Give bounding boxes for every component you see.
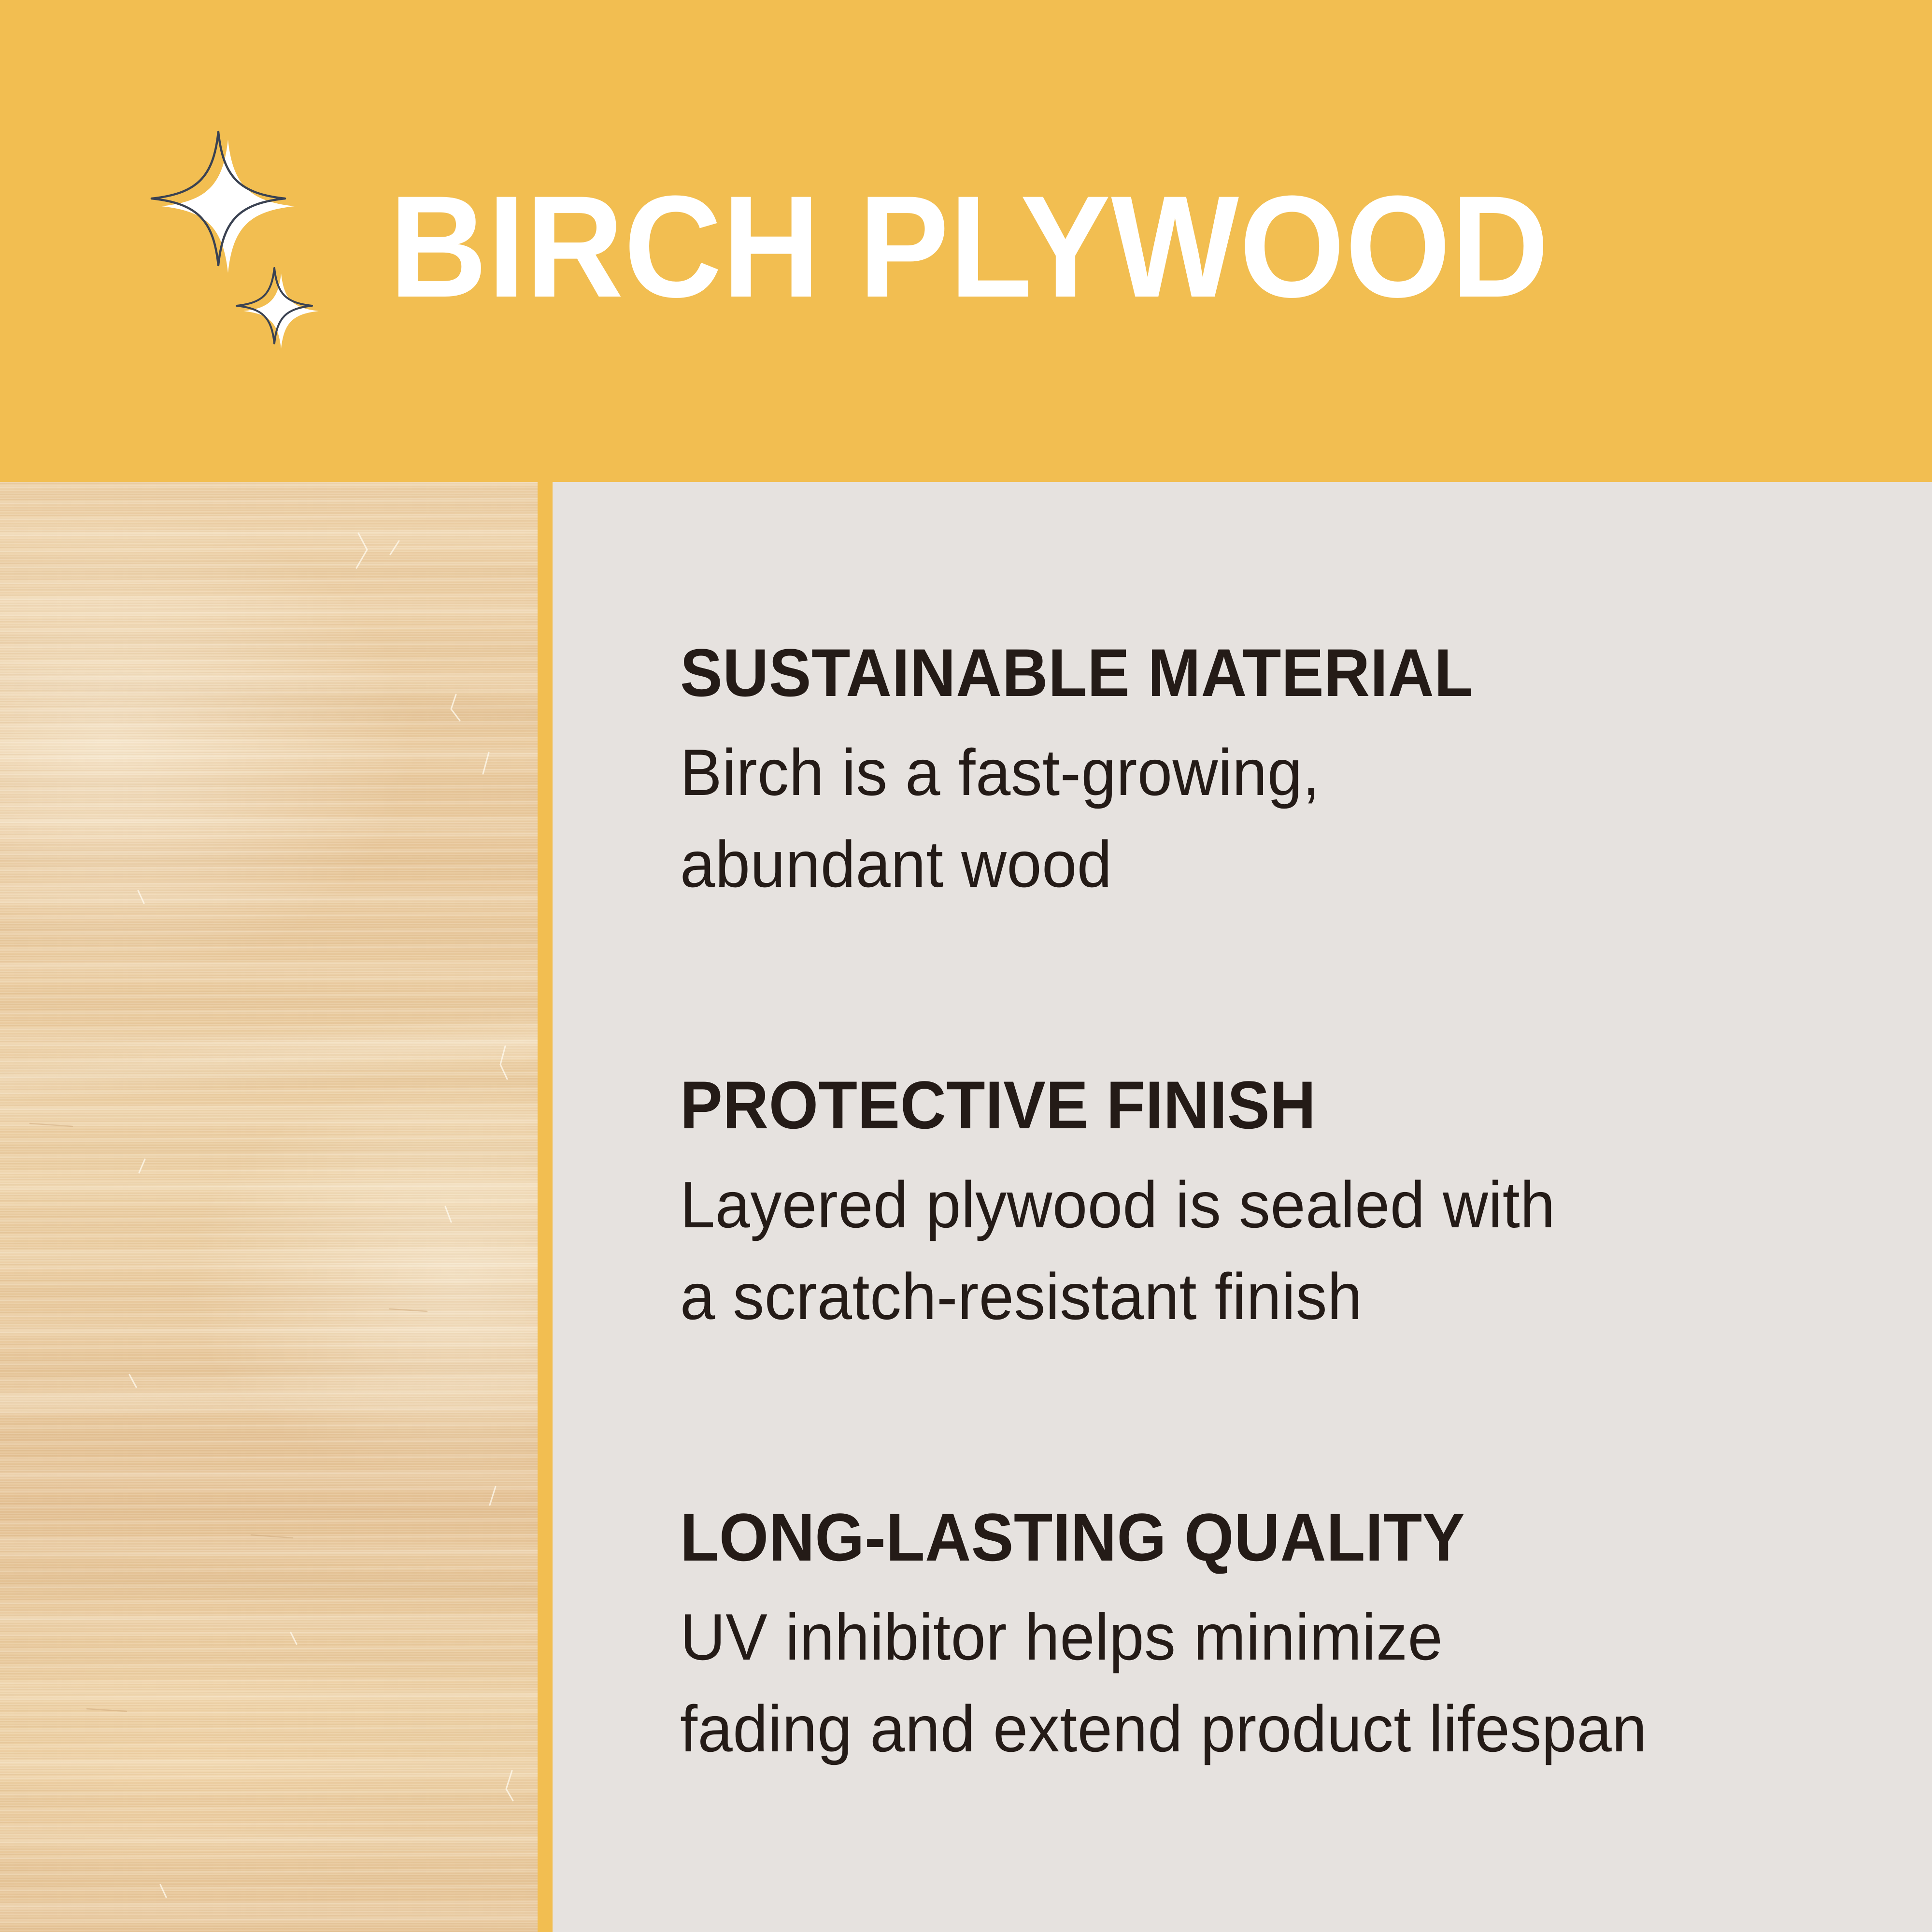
feature-heading: SUSTAINABLE MATERIAL: [680, 637, 1842, 709]
feature-block-sustainable-material: SUSTAINABLE MATERIAL Birch is a fast-gro…: [680, 637, 1917, 910]
feature-block-long-lasting-quality: LONG-LASTING QUALITY UV inhibitor helps …: [680, 1501, 1917, 1775]
feature-body-line: fading and extend product lifespan: [680, 1683, 1861, 1775]
sparkle-small-icon: [237, 268, 319, 349]
feature-body: Layered plywood is sealed with a scratch…: [680, 1159, 1861, 1342]
feature-block-protective-finish: PROTECTIVE FINISH Layered plywood is sea…: [680, 1069, 1917, 1342]
feature-body: UV inhibitor helps minimize fading and e…: [680, 1591, 1861, 1775]
page-title: BIRCH PLYWOOD: [389, 164, 1549, 328]
features-panel: SUSTAINABLE MATERIAL Birch is a fast-gro…: [553, 482, 1932, 1932]
feature-heading: PROTECTIVE FINISH: [680, 1069, 1842, 1141]
birch-plywood-feature-card: BIRCH PLYWOOD: [0, 0, 1932, 1932]
header-band: BIRCH PLYWOOD: [0, 0, 1932, 482]
feature-body-line: a scratch-resistant finish: [680, 1250, 1861, 1342]
feature-body: Birch is a fast-growing, abundant wood: [680, 726, 1861, 910]
sparkle-large-icon: [152, 132, 295, 273]
wood-texture-panel: [0, 482, 538, 1932]
gold-divider-strip: [538, 482, 553, 1932]
feature-heading: LONG-LASTING QUALITY: [680, 1501, 1842, 1574]
feature-body-line: Layered plywood is sealed with: [680, 1159, 1861, 1250]
feature-body-line: UV inhibitor helps minimize: [680, 1591, 1861, 1683]
sparkle-decoration-group: [145, 123, 348, 350]
feature-body-line: Birch is a fast-growing,: [680, 726, 1861, 818]
feature-body-line: abundant wood: [680, 818, 1861, 910]
